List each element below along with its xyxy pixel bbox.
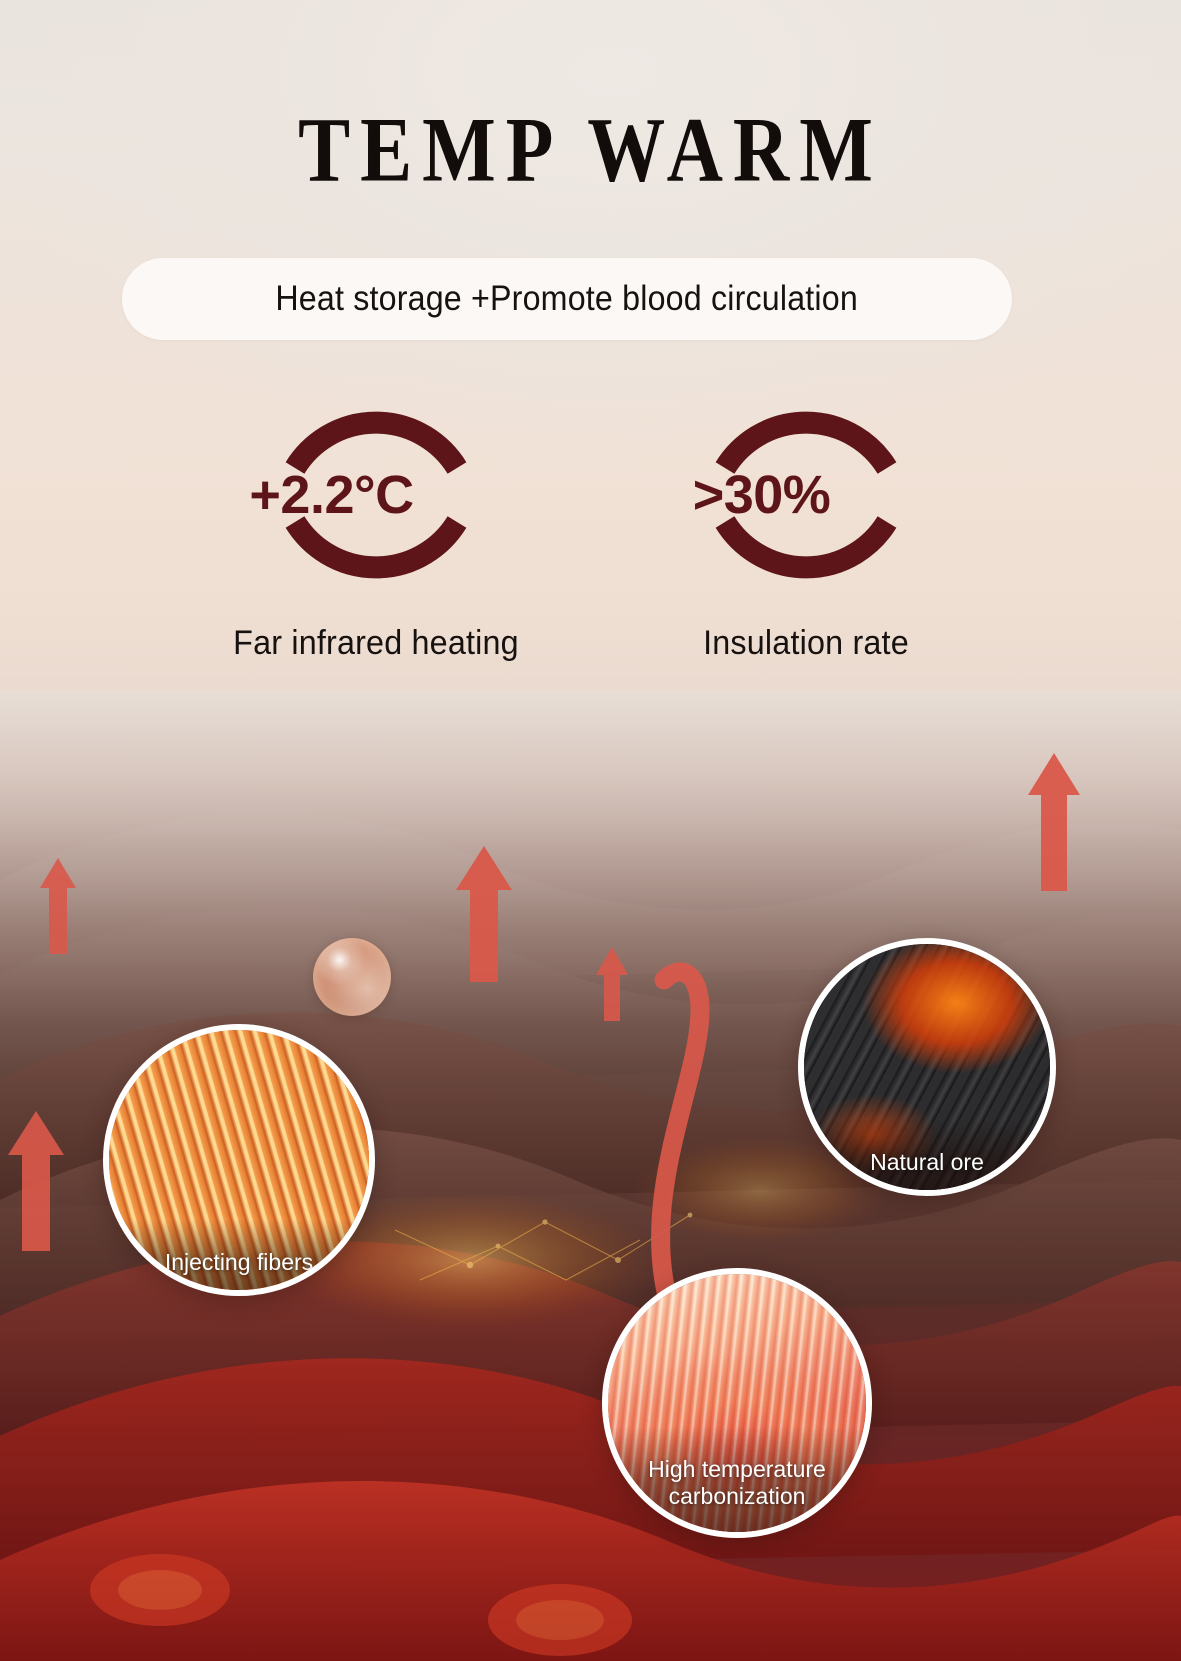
photo-caption-line-2: carbonization <box>622 1483 852 1510</box>
photo-caption: Injecting fibers <box>109 1219 369 1290</box>
stat-label: Insulation rate <box>658 624 953 663</box>
stats-row: +2.2°C Far infrared heating >30% Insulat… <box>0 390 1181 663</box>
floating-bubble-decoration <box>313 938 391 1016</box>
stat-far-infrared-heating: +2.2°C Far infrared heating <box>221 390 531 663</box>
photo-caption: Natural ore <box>804 1119 1050 1190</box>
photo-caption-line-1: High temperature <box>622 1456 852 1483</box>
stat-label: Far infrared heating <box>228 624 523 663</box>
photo-caption: High temperature carbonization <box>608 1426 866 1532</box>
stat-value: +2.2°C <box>221 390 443 600</box>
photo-circle-high-temperature-carbonization: High temperature carbonization <box>602 1268 872 1538</box>
poster-canvas: TEMP WARM Heat storage +Promote blood ci… <box>0 0 1181 1661</box>
subtitle-text: Heat storage +Promote blood circulation <box>276 279 859 319</box>
photo-circle-injecting-fibers: Injecting fibers <box>103 1024 375 1296</box>
subtitle-pill: Heat storage +Promote blood circulation <box>122 258 1012 340</box>
photo-circle-natural-ore: Natural ore <box>798 938 1056 1196</box>
stat-value: >30% <box>651 390 873 600</box>
stat-insulation-rate: >30% Insulation rate <box>651 390 961 663</box>
page-title: TEMP WARM <box>0 104 1181 196</box>
